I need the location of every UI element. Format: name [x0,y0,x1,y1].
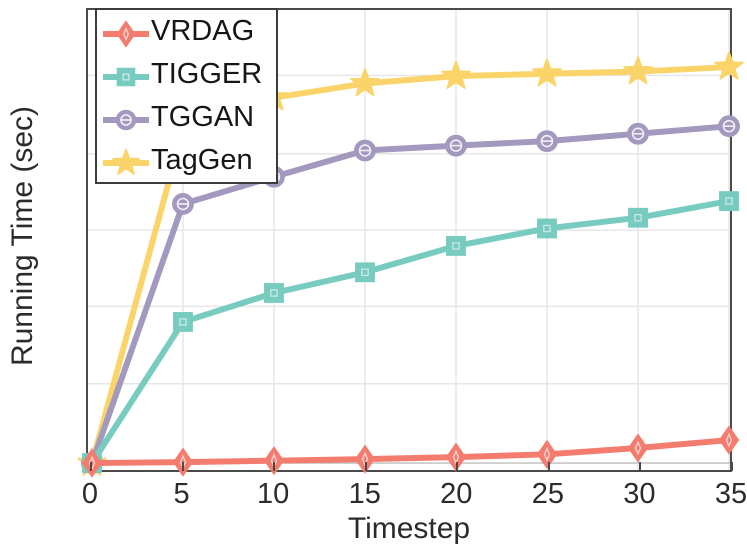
x-tick-mark [182,462,184,471]
y-axis-label-wrap: Running Time (sec) [0,0,46,472]
legend-item-label: TIGGER [151,60,262,89]
x-tick-mark [731,462,733,471]
legend-swatch [103,146,149,176]
legend-marker-square-icon [103,60,149,94]
chart-figure: Running Time (sec) 0101102103104105 0510… [0,0,747,557]
x-tick-mark [639,462,641,471]
x-tick-mark [273,462,275,471]
legend-item-tigger[interactable]: TIGGER [97,53,276,96]
y-axis-label: Running Time (sec) [6,106,40,366]
x-tick-label: 15 [349,478,381,511]
legend-item-label: VRDAG [151,17,254,46]
x-tick-label: 30 [623,478,655,511]
legend-marker-star-icon [103,146,149,180]
x-tick-label: 35 [715,478,747,511]
x-tick-mark [548,462,550,471]
x-tick-label: 0 [82,478,98,511]
legend-item-taggen[interactable]: TagGen [97,139,276,182]
x-tick-label: 25 [532,478,564,511]
x-tick-mark [456,462,458,471]
legend-marker-circle-icon [103,103,149,137]
legend-item-tggan[interactable]: TGGAN [97,96,276,139]
x-tick-label: 20 [440,478,472,511]
legend-item-label: TagGen [151,146,253,175]
chart-legend: VRDAGTIGGERTGGANTagGen [95,8,278,184]
x-tick-mark [365,462,367,471]
x-tick-label: 5 [173,478,189,511]
legend-swatch [103,60,149,90]
legend-marker-diamond-icon [103,17,149,51]
x-axis-label: Timestep [86,512,732,546]
x-tick-mark [90,462,92,471]
legend-swatch [103,103,149,133]
legend-swatch [103,17,149,47]
legend-item-vrdag[interactable]: VRDAG [97,10,276,53]
x-tick-label: 10 [257,478,289,511]
legend-item-label: TGGAN [151,103,254,132]
